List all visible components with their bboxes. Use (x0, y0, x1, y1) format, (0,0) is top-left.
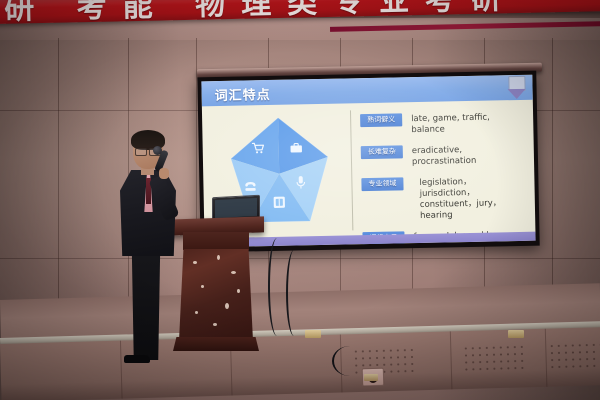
podium-neck (183, 232, 249, 250)
list-item: 专业领域 legislation，jurisdiction， constitue… (361, 175, 527, 223)
microphone-head (153, 146, 162, 155)
slide-title-bar: 词汇特点 (201, 75, 532, 107)
row-examples: late, game, traffic, balance (411, 111, 525, 136)
stage-object (305, 330, 321, 338)
list-item: 长难复杂 eradicative, procrastination (361, 143, 526, 169)
telephone-icon (243, 180, 257, 192)
vocabulary-list: 熟词僻义 late, game, traffic, balance 长难复杂 e… (360, 111, 528, 247)
row-tag: 熟词僻义 (360, 113, 402, 127)
presenter-shoe (124, 355, 150, 363)
row-tag: 专业领域 (361, 177, 403, 191)
vent-perforation (462, 343, 527, 375)
cable (268, 238, 286, 336)
lecture-hall-photo: 研 考能 物理类专业考研 词汇特点 (0, 0, 600, 400)
cable (332, 346, 368, 376)
stage-object (508, 330, 524, 338)
ribbon-badge-icon (508, 76, 525, 91)
presenter-legs (129, 245, 163, 360)
list-item: 熟词僻义 late, game, traffic, balance (360, 111, 525, 137)
row-tag: 长难复杂 (361, 145, 403, 159)
book-icon (273, 196, 286, 209)
podium-base (173, 337, 259, 351)
briefcase-icon (290, 142, 303, 153)
podium-body (179, 249, 253, 341)
presenter-hand (159, 168, 169, 179)
stage-object (364, 374, 378, 381)
cable (286, 250, 302, 336)
shopping-cart-icon (252, 142, 265, 154)
row-examples: eradicative, procrastination (412, 143, 526, 168)
microphone-icon (295, 175, 306, 189)
slide-divider (350, 110, 353, 230)
row-examples: legislation，jurisdiction， constituent，ju… (419, 175, 527, 222)
vent-perforation (548, 341, 600, 373)
slide-title: 词汇特点 (214, 84, 270, 104)
